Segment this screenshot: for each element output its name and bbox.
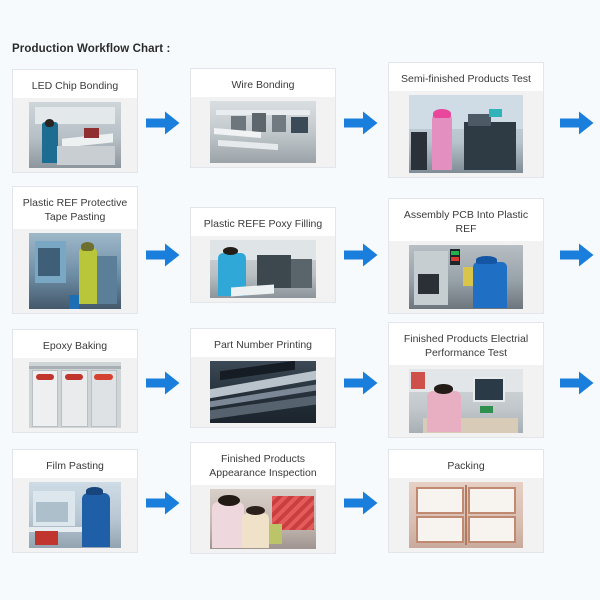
photo-detail <box>468 114 491 126</box>
step-label: Finished Products Electrial Performance … <box>389 323 543 365</box>
step-photo-thumbnail <box>210 489 317 549</box>
step-photo-thumbnail <box>210 240 317 298</box>
photo-detail <box>468 487 516 513</box>
arrow-right-icon-wrap2 <box>560 242 594 268</box>
arrow-right-icon-step7 <box>146 370 180 396</box>
step-label: LED Chip Bonding <box>13 70 137 98</box>
photo-scene <box>210 101 317 163</box>
photo-detail <box>38 248 60 275</box>
photo-detail <box>433 109 451 118</box>
photo-detail <box>416 487 464 513</box>
photo-detail <box>94 374 112 380</box>
arrow-right-icon-step1 <box>146 110 180 136</box>
photo-detail <box>218 495 239 506</box>
photo-detail <box>86 487 103 495</box>
workflow-step-card[interactable]: LED Chip Bonding <box>12 69 138 173</box>
photo-detail <box>480 406 494 412</box>
photo-scene <box>29 482 121 548</box>
arrow-right-icon-step10 <box>146 490 180 516</box>
photo-scene <box>409 482 523 548</box>
step-photo-thumbnail <box>29 482 121 548</box>
photo-detail <box>432 115 453 170</box>
arrow-right-icon-wrap1 <box>560 110 594 136</box>
photo-detail <box>231 285 274 297</box>
finished-products-appearance-inspection-photo <box>191 485 335 553</box>
arrow-right-icon-step2 <box>344 110 378 136</box>
step-label: Semi-finished Products Test <box>389 63 543 91</box>
step-photo-thumbnail <box>210 361 317 423</box>
step-photo-thumbnail <box>29 362 121 428</box>
photo-detail <box>451 251 459 255</box>
arrow-right-icon-wrap3 <box>560 370 594 396</box>
photo-scene <box>29 362 121 428</box>
workflow-row: Epoxy BakingPart Number PrintingFinished… <box>0 322 600 440</box>
workflow-step-card[interactable]: Assembly PCB Into Plastic REF <box>388 198 544 314</box>
step-label: Finished Products Appearance Inspection <box>191 443 335 485</box>
photo-detail <box>252 113 266 132</box>
led-chip-bonding-photo <box>13 98 137 172</box>
step-label: Wire Bonding <box>191 69 335 97</box>
photo-detail <box>291 117 308 133</box>
photo-detail <box>473 377 505 403</box>
wire-bonding-photo <box>191 97 335 167</box>
photo-detail <box>57 146 116 166</box>
step-label: Film Pasting <box>13 450 137 478</box>
step-photo-thumbnail <box>210 101 317 163</box>
step-label: Assembly PCB Into Plastic REF <box>389 199 543 241</box>
step-label: Packing <box>389 450 543 478</box>
photo-detail <box>464 122 516 170</box>
packing-photo <box>389 478 543 552</box>
photo-detail <box>84 128 99 137</box>
photo-scene <box>29 233 121 309</box>
photo-scene <box>210 361 317 423</box>
step-photo-thumbnail <box>409 95 523 173</box>
step-photo-thumbnail <box>409 369 523 433</box>
workflow-step-card[interactable]: Part Number Printing <box>190 328 336 428</box>
photo-detail <box>36 374 54 380</box>
photo-detail <box>473 262 507 308</box>
photo-detail <box>212 502 244 548</box>
finished-products-electrial-performance-test-photo <box>389 365 543 437</box>
photo-detail <box>36 502 67 522</box>
photo-detail <box>97 256 117 305</box>
workflow-step-card[interactable]: Semi-finished Products Test <box>388 62 544 178</box>
part-number-printing-photo <box>191 357 335 427</box>
arrow-right-icon-step4 <box>146 242 180 268</box>
workflow-row: Plastic REF Protective Tape PastingPlast… <box>0 182 600 312</box>
photo-detail <box>291 259 312 288</box>
workflow-row: Film PastingFinished Products Appearance… <box>0 442 600 560</box>
photo-detail <box>427 391 461 432</box>
arrow-right-icon-step8 <box>344 370 378 396</box>
photo-detail <box>451 257 459 261</box>
photo-detail <box>82 493 110 547</box>
step-photo-thumbnail <box>29 233 121 309</box>
photo-detail <box>272 115 287 132</box>
photo-detail <box>416 516 464 542</box>
workflow-step-card[interactable]: Epoxy Baking <box>12 329 138 433</box>
photo-detail <box>465 485 467 546</box>
workflow-row: LED Chip BondingWire BondingSemi-finishe… <box>0 62 600 180</box>
photo-detail <box>65 374 83 380</box>
photo-detail <box>489 109 503 117</box>
assembly-pcb-into-plastic-ref-photo <box>389 241 543 313</box>
workflow-step-card[interactable]: Plastic REF Protective Tape Pasting <box>12 186 138 314</box>
workflow-step-card[interactable]: Wire Bonding <box>190 68 336 168</box>
film-pasting-photo <box>13 478 137 552</box>
photo-detail <box>257 255 291 287</box>
photo-detail <box>45 119 54 127</box>
step-label: Plastic REF Protective Tape Pasting <box>13 187 137 229</box>
workflow-step-card[interactable]: Film Pasting <box>12 449 138 553</box>
photo-detail <box>409 369 523 392</box>
workflow-step-card[interactable]: Finished Products Electrial Performance … <box>388 322 544 438</box>
plastic-ref-protective-tape-pasting-photo <box>13 229 137 313</box>
photo-detail <box>69 295 78 309</box>
step-photo-thumbnail <box>409 482 523 548</box>
photo-scene <box>409 95 523 173</box>
photo-detail <box>418 274 439 293</box>
plastic-refe-poxy-filling-photo <box>191 236 335 302</box>
step-label: Epoxy Baking <box>13 330 137 358</box>
step-label: Part Number Printing <box>191 329 335 357</box>
photo-detail <box>411 372 425 390</box>
semi-finished-products-test-photo <box>389 91 543 177</box>
photo-scene <box>409 245 523 309</box>
workflow-step-card[interactable]: Finished Products Appearance Inspection <box>190 442 336 554</box>
page-title: Production Workflow Chart : <box>12 43 170 55</box>
photo-detail <box>81 242 95 251</box>
photo-scene <box>29 102 121 168</box>
photo-detail <box>411 132 427 169</box>
photo-scene <box>210 489 317 549</box>
photo-detail <box>42 122 58 163</box>
step-photo-thumbnail <box>29 102 121 168</box>
workflow-step-card[interactable]: Plastic REFE Poxy Filling <box>190 207 336 303</box>
photo-detail <box>218 140 278 150</box>
arrow-right-icon-step11 <box>344 490 378 516</box>
workflow-step-card[interactable]: Packing <box>388 449 544 553</box>
photo-detail <box>35 531 59 546</box>
photo-detail <box>29 366 121 369</box>
photo-detail <box>242 513 270 548</box>
step-label: Plastic REFE Poxy Filling <box>191 208 335 236</box>
photo-scene <box>409 369 523 433</box>
photo-scene <box>210 240 317 298</box>
step-photo-thumbnail <box>409 245 523 309</box>
photo-detail <box>468 516 516 542</box>
epoxy-baking-photo <box>13 358 137 432</box>
photo-detail <box>79 248 97 304</box>
arrow-right-icon-step5 <box>344 242 378 268</box>
photo-detail <box>476 256 497 264</box>
